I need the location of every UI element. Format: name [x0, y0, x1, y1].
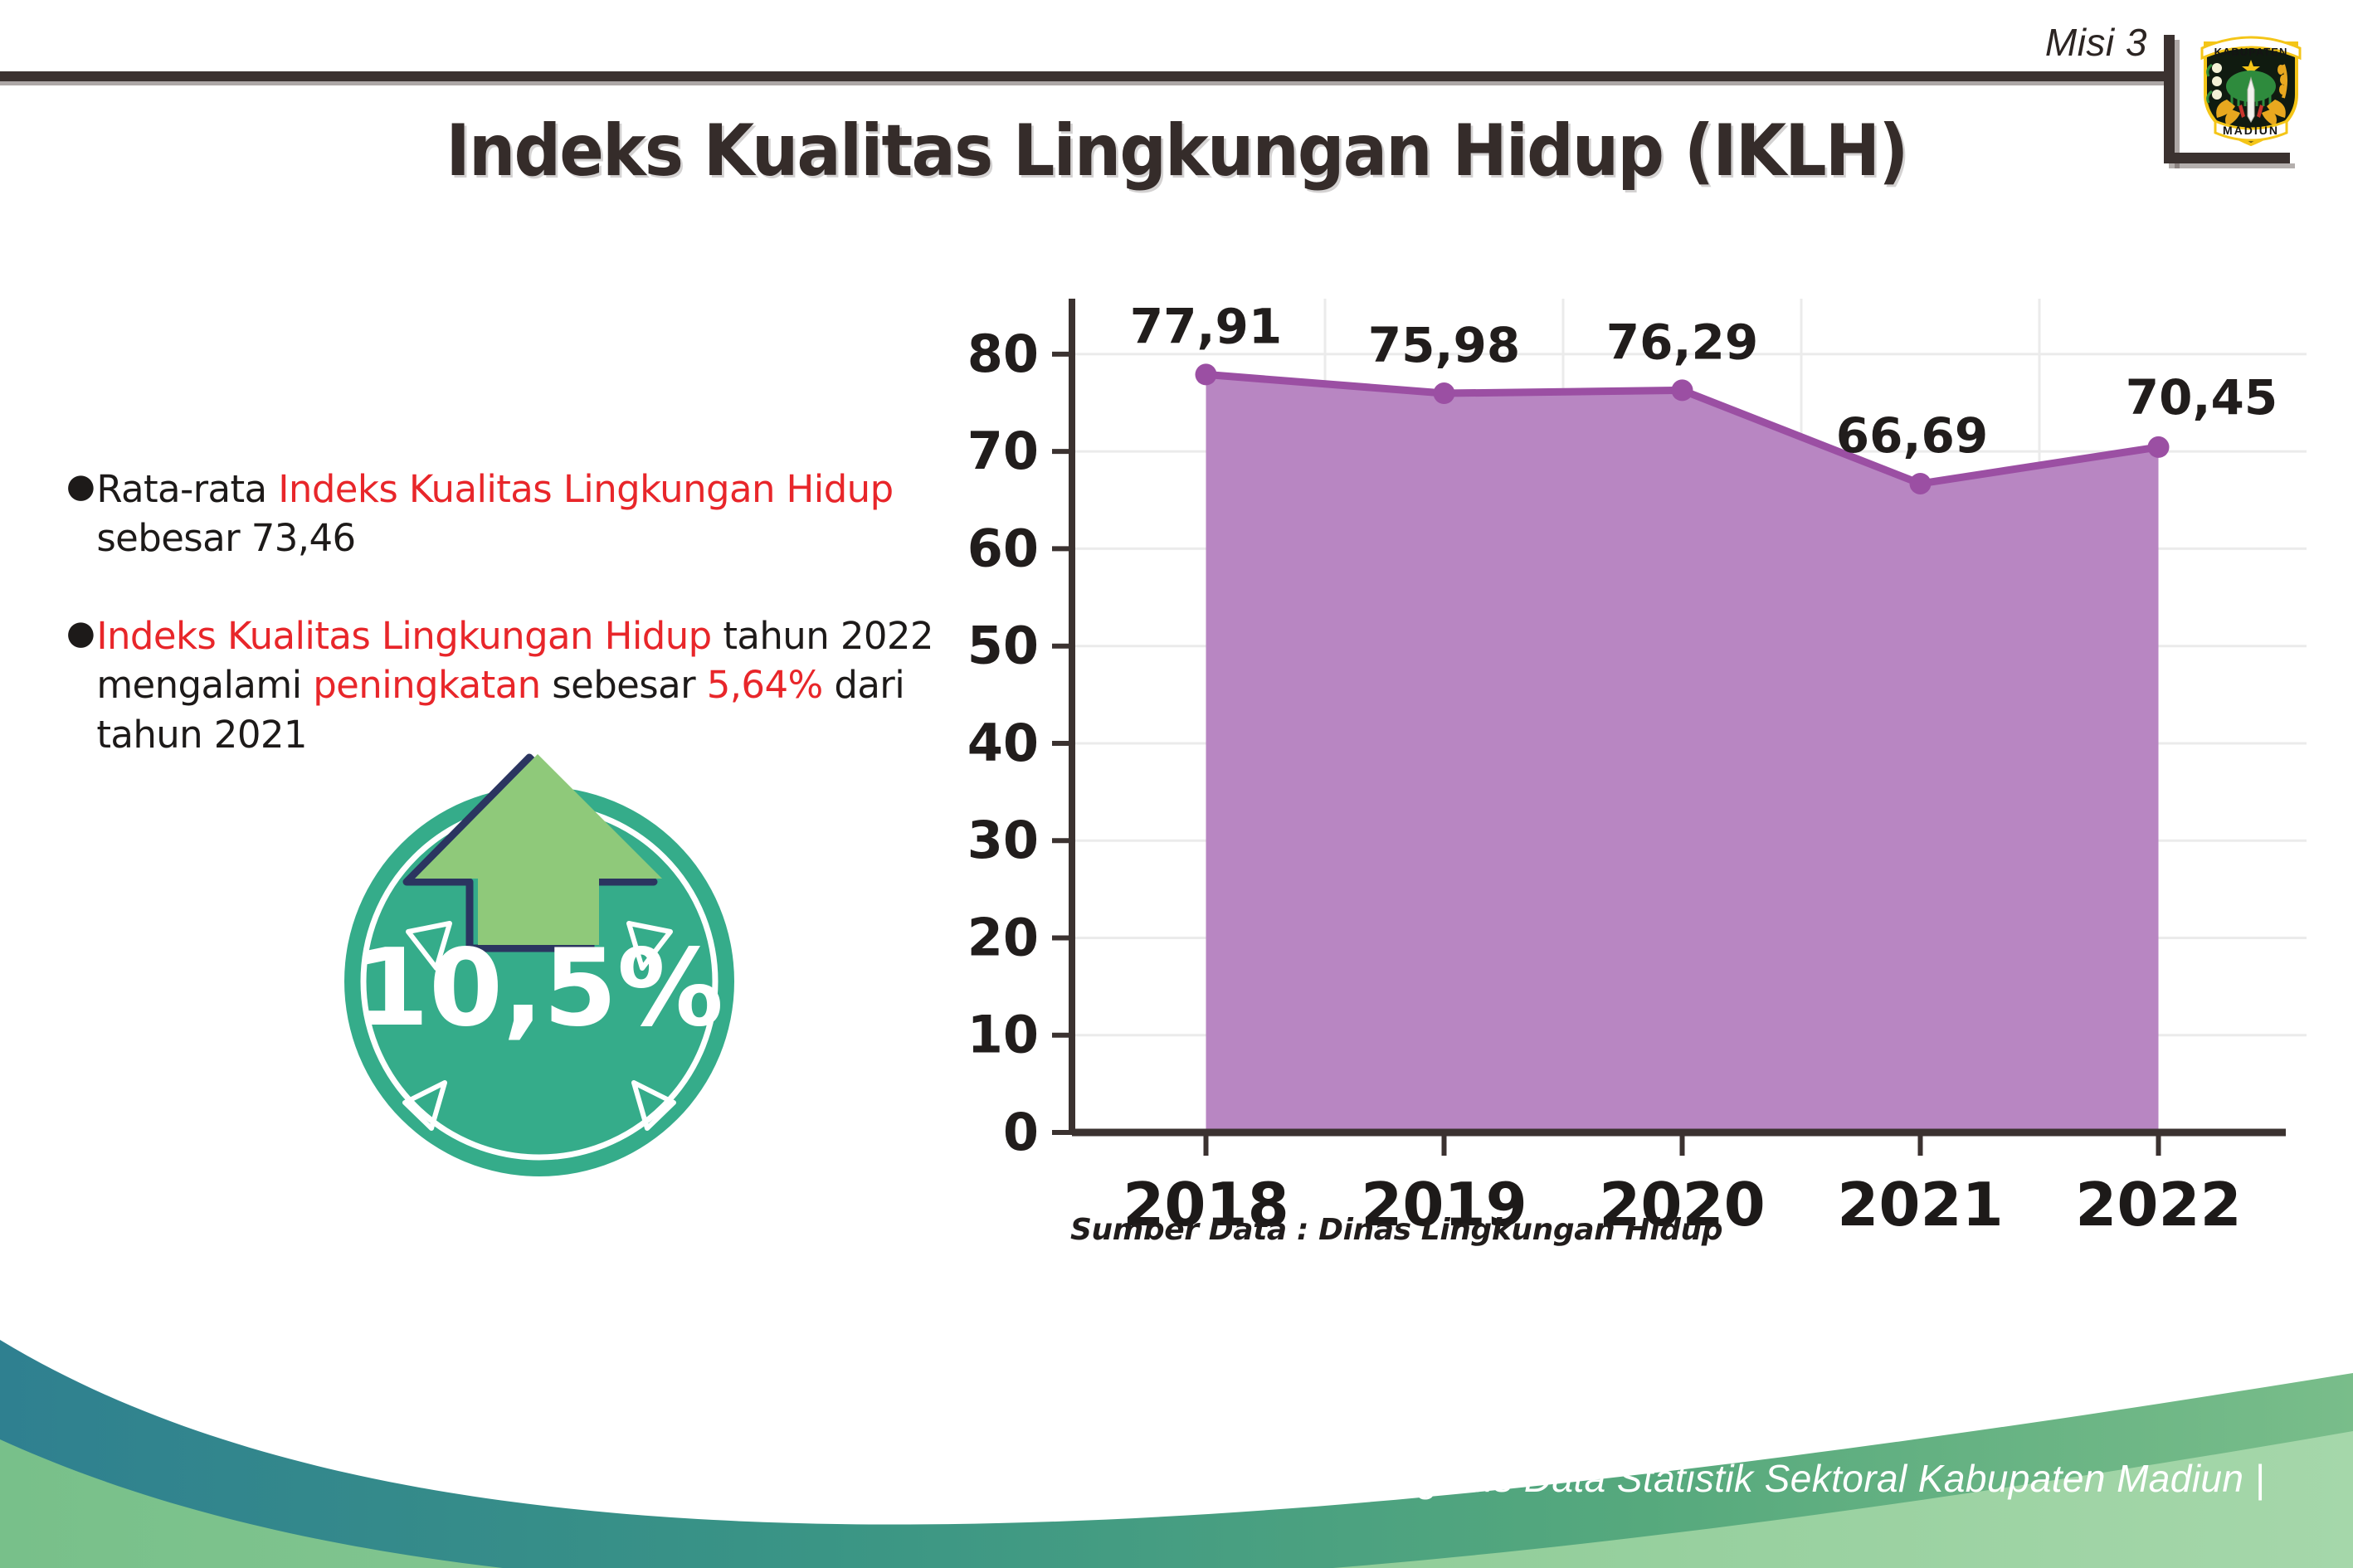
bullet-item-average: ● Rata-rata Indeks Kualitas Lingkungan H… [66, 465, 946, 563]
chart-y-tick-label: 60 [967, 518, 1039, 578]
bullet-item-growth: ● Indeks Kualitas Lingkungan Hidup tahun… [66, 611, 946, 759]
chart-marker [2148, 436, 2170, 458]
chart-marker [1196, 363, 1217, 385]
growth-badge: 10,5% [324, 751, 755, 1191]
svg-text:KABUPATEN: KABUPATEN [2214, 46, 2288, 58]
chart-value-label: 76,29 [1606, 314, 1758, 370]
footer-text: Media Infografis Data Statistik Sektoral… [1236, 1456, 2265, 1501]
chart-y-tick-label: 80 [967, 324, 1039, 384]
bullet-average-text: Rata-rata Indeks Kualitas Lingkungan Hid… [96, 465, 946, 563]
chart-y-tick-label: 10 [967, 1005, 1039, 1065]
chart-y-tick-label: 70 [967, 421, 1039, 481]
footer [0, 1294, 2353, 1568]
chart-value-label: 70,45 [2126, 369, 2277, 426]
chart-value-label: 77,91 [1130, 298, 1282, 354]
header-horizontal-rule-shadow [0, 81, 2164, 85]
chart-y-tick-label: 40 [967, 713, 1039, 773]
chart-marker [1910, 473, 1932, 494]
header-horizontal-rule [0, 71, 2164, 81]
bullet-dot-icon: ● [66, 611, 95, 655]
chart-marker [1672, 379, 1693, 401]
bullet-growth-text: Indeks Kualitas Lingkungan Hidup tahun 2… [96, 611, 946, 759]
page-title: Indeks Kualitas Lingkungan Hidup (IKLH) [94, 110, 2258, 192]
chart-x-tick-label: 2022 [2075, 1170, 2241, 1236]
chart-value-label: 66,69 [1836, 407, 1988, 464]
chart-value-label: 75,98 [1368, 317, 1520, 373]
chart-y-tick-label: 20 [967, 907, 1039, 967]
source-note: Sumber Data : Dinas Lingkungan Hidup [1070, 1213, 1722, 1247]
chart-y-tick-label: 0 [1003, 1102, 1039, 1162]
chart-x-tick-label: 2021 [1837, 1170, 2003, 1236]
chart-marker [1434, 382, 1455, 404]
chart-area-fill [1206, 374, 2159, 1132]
iklh-area-chart: 77,9175,9876,2966,6970,45 01020304050607… [962, 290, 2307, 1236]
chart-y-tick-label: 30 [967, 810, 1039, 870]
chart-y-tick-labels: 01020304050607080 [967, 324, 1039, 1162]
chart-y-tick-label: 50 [967, 616, 1039, 676]
bullet-dot-icon: ● [66, 465, 95, 509]
misi-label: Misi 3 [2045, 20, 2147, 65]
badge-value: 10,5% [355, 927, 723, 1050]
